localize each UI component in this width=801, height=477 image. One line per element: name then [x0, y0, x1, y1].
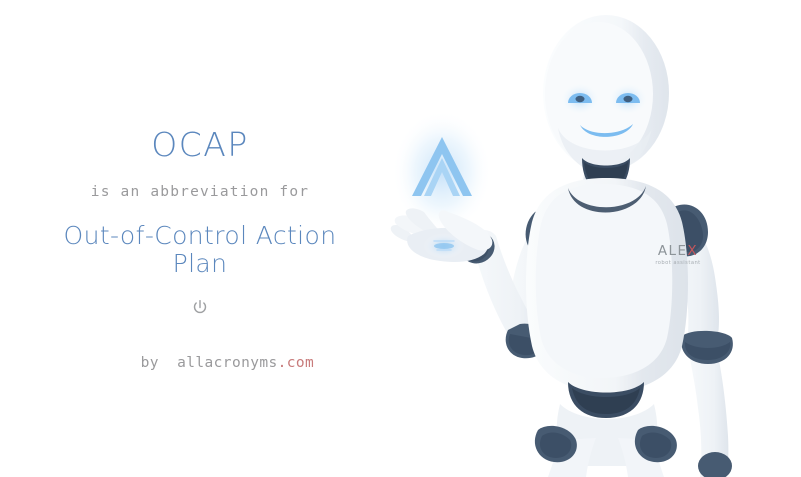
- robot-figure-svg: [390, 0, 801, 477]
- robot-head: [543, 15, 669, 194]
- site-byline: by allacronyms.com: [86, 342, 314, 386]
- acronym-definition-page: OCAP is an abbreviation for Out-of-Contr…: [0, 0, 801, 477]
- robot-torso: [526, 178, 688, 392]
- acronym-title: OCAP: [151, 128, 249, 161]
- byline-tld: .com: [278, 355, 315, 371]
- byline-prefix: by allacronyms: [141, 355, 278, 371]
- acronym-expansion: Out-of-Control Action Plan: [35, 222, 365, 278]
- abbreviation-tagline: is an abbreviation for: [91, 185, 309, 200]
- power-standby-icon: [190, 298, 210, 318]
- robot-assistant-illustration: ALEX robot assistant: [390, 0, 801, 477]
- definition-text-column: OCAP is an abbreviation for Out-of-Contr…: [0, 0, 400, 477]
- right-elbow-joint: [681, 331, 733, 364]
- open-palm-icon: [391, 208, 493, 262]
